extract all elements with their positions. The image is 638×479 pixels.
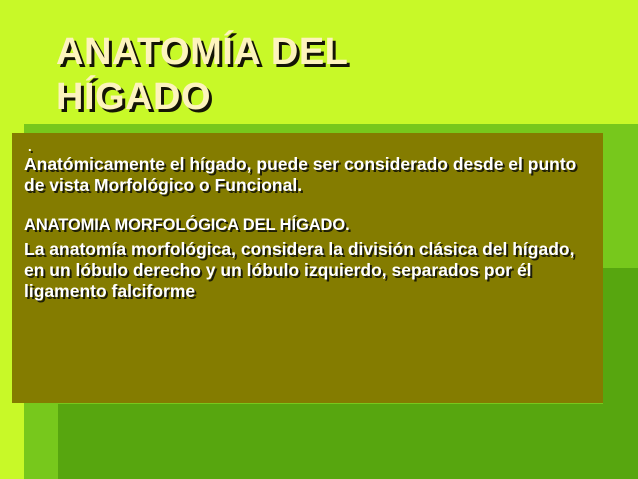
paragraph-morfologica: La anatomía morfológica, considera la di… [24, 239, 593, 302]
paragraph-intro: Anatómicamente el hígado, puede ser cons… [24, 154, 593, 196]
decorative-band-mid-strip-left [24, 404, 58, 479]
decorative-band-dark-green-right [603, 268, 638, 479]
decorative-band-dark-green-bottom [58, 404, 638, 479]
presentation-slide: ANATOMÍA DEL HÍGADO . Anatómicamente el … [0, 0, 638, 479]
slide-title-line-2: HÍGADO [56, 76, 211, 118]
slide-content-box: . Anatómicamente el hígado, puede ser co… [12, 133, 603, 403]
section-heading-morfologica: ANATOMIA MORFOLÓGICA DEL HÍGADO. [24, 216, 593, 236]
lead-marker: . [28, 140, 593, 153]
slide-title: ANATOMÍA DEL HÍGADO [56, 30, 596, 120]
paragraph-spacer [22, 196, 593, 216]
slide-title-line-1: ANATOMÍA DEL [56, 31, 348, 73]
